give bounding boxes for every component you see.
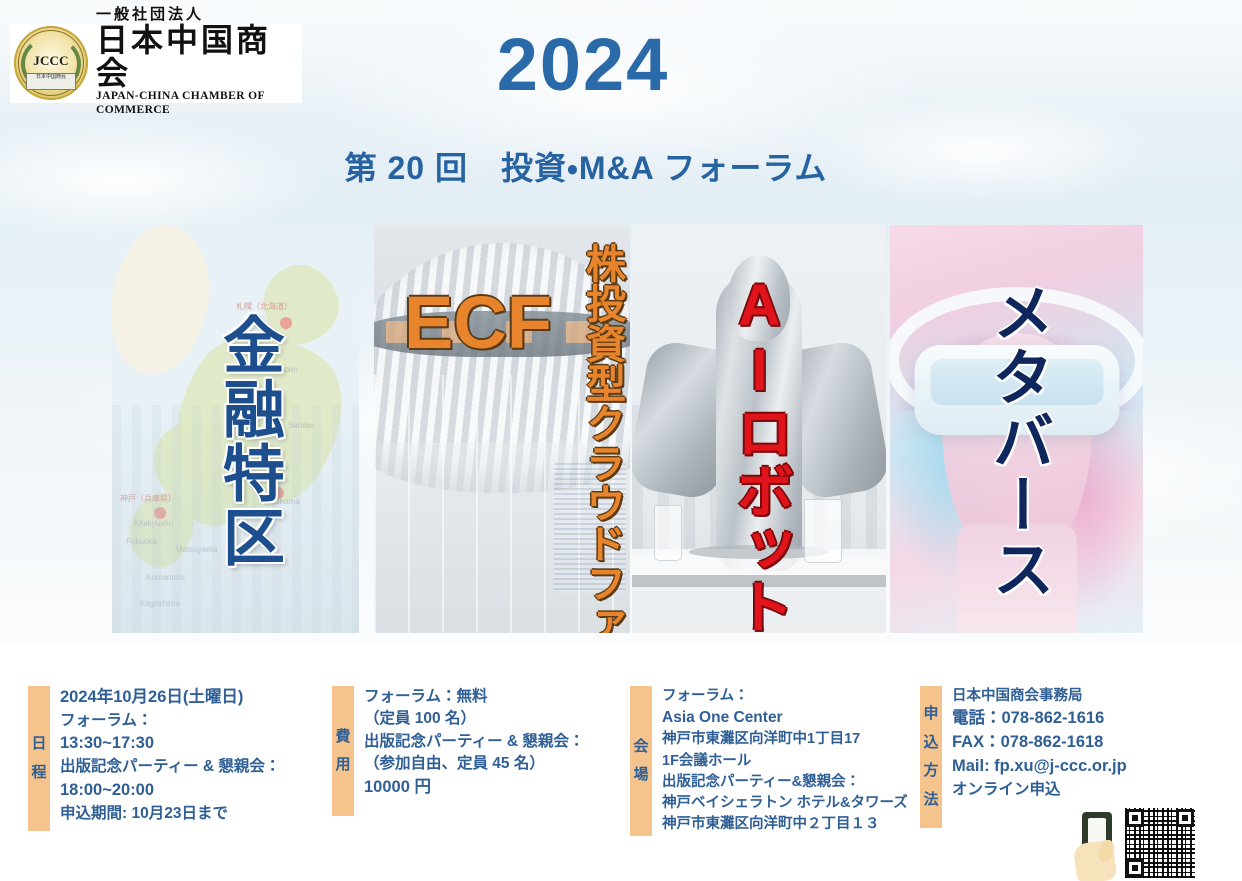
panel-caption-ecf-sub: 株投資型クラウドファンティング <box>582 243 622 633</box>
info-block-fee: 費 用 フォーラム：無料 （定員 100 名） 出版記念パーティー & 懇親会：… <box>332 686 622 816</box>
page-title-year: 2024 <box>0 22 1242 107</box>
tag-fee-char-1: 費 <box>335 723 350 752</box>
fee-forum-capacity: （定員 100 名） <box>364 708 584 730</box>
panel-caption-ecf-main: ECF <box>404 287 552 360</box>
venue-party-address: 神戸市東灘区向洋町中２丁目１３ <box>662 814 908 835</box>
tag-fee: 費 用 <box>332 686 354 816</box>
tag-apply-char-1: 申 <box>923 700 938 729</box>
tag-venue: 会 場 <box>630 686 652 836</box>
logo-line-corporate-form: 一般社団法人 <box>96 8 298 23</box>
tag-apply: 申 込 方 法 <box>920 686 942 828</box>
info-apply-body: 日本中国商会事務局 電話：078-862-1616 FAX：078-862-16… <box>942 686 1127 801</box>
tag-schedule-char-1: 日 <box>31 730 46 759</box>
apply-online: オンライン申込 <box>952 779 1127 801</box>
page-subtitle: 第 20 回 投資・M&A フォーラム <box>0 143 1242 189</box>
schedule-party-time: 18:00~20:00 <box>60 779 280 803</box>
apply-office: 日本中国商会事務局 <box>952 686 1127 707</box>
schedule-date: 2024年10月26日(土曜日) <box>60 686 280 710</box>
info-schedule-body: 2024年10月26日(土曜日) フォーラム： 13:30~17:30 出版記念… <box>50 686 280 825</box>
tag-schedule: 日 程 <box>28 686 50 831</box>
subtitle-text: 第 20 回 投資・M&A フォーラム <box>345 143 828 189</box>
apply-tel: 電話：078-862-1616 <box>952 707 1127 731</box>
qr-code-icon[interactable] <box>1125 808 1195 878</box>
tag-apply-char-2: 込 <box>923 729 938 758</box>
panel-finance-special-zone[interactable]: 札幌（北海道） 神戸（兵庫県） Japan Sendai Yokohama Sh… <box>112 225 359 633</box>
fee-party-capacity: （参加自由、定員 45 名） <box>364 753 584 775</box>
info-venue-body: フォーラム： Asia One Center 神戸市東灘区向洋町中1丁目17 1… <box>652 686 908 835</box>
info-fee-body: フォーラム：無料 （定員 100 名） 出版記念パーティー & 懇親会： （参加… <box>354 686 584 800</box>
apply-fax: FAX：078-862-1618 <box>952 731 1127 755</box>
seal-band-label: 日本中国商会 <box>26 73 76 90</box>
seal-initials: JCCC <box>33 53 68 69</box>
venue-forum-name: Asia One Center <box>662 707 908 729</box>
online-application-qr-area[interactable] <box>1075 806 1237 878</box>
venue-forum-hall: 1F会議ホール <box>662 751 908 772</box>
panel-ai-robot[interactable]: AIロボット <box>632 225 886 633</box>
tag-schedule-char-2: 程 <box>31 759 46 788</box>
info-block-schedule: 日 程 2024年10月26日(土曜日) フォーラム： 13:30~17:30 … <box>28 686 328 831</box>
panel-caption-metaverse: メタバース <box>986 281 1048 601</box>
venue-party-label: 出版記念パーティー&懇親会： <box>662 772 908 793</box>
schedule-forum-time: 13:30~17:30 <box>60 732 280 756</box>
venue-party-name: 神戸ベイシェラトン ホテル&タワーズ <box>662 793 908 814</box>
tag-fee-char-2: 用 <box>335 751 350 780</box>
info-block-venue: 会 場 フォーラム： Asia One Center 神戸市東灘区向洋町中1丁目… <box>630 686 930 836</box>
panel-ecf[interactable]: ECF 株投資型クラウドファンティング <box>374 225 630 633</box>
smartphone-in-hand-icon <box>1075 812 1119 878</box>
year-text: 2024 <box>497 22 670 107</box>
panel-metaverse[interactable]: メタバース <box>890 225 1143 633</box>
schedule-deadline: 申込期間: 10月23日まで <box>60 803 280 825</box>
fee-forum: フォーラム：無料 <box>364 686 584 708</box>
fee-party-price: 10000 円 <box>364 776 584 800</box>
fee-party-label: 出版記念パーティー & 懇親会： <box>364 731 584 753</box>
tag-apply-char-3: 方 <box>923 757 938 786</box>
tag-apply-char-4: 法 <box>923 786 938 815</box>
panel-caption-finance-special-zone: 金融特区 <box>216 313 278 569</box>
venue-forum-address: 神戸市東灘区向洋町中1丁目17 <box>662 729 908 750</box>
topic-panel-strip: 札幌（北海道） 神戸（兵庫県） Japan Sendai Yokohama Sh… <box>0 225 1242 633</box>
tag-venue-char-1: 会 <box>633 733 648 762</box>
apply-mail[interactable]: Mail: fp.xu@j-ccc.or.jp <box>952 755 1127 779</box>
schedule-forum-label: フォーラム： <box>60 710 280 732</box>
venue-forum-label: フォーラム： <box>662 686 908 707</box>
tag-venue-char-2: 場 <box>633 761 648 790</box>
poster-root: JCCC 日本中国商会 一般社団法人 日本中国商会 JAPAN-CHINA CH… <box>0 0 1242 881</box>
panel-caption-ai-robot: AIロボット <box>730 273 788 633</box>
schedule-party-label: 出版記念パーティー & 懇親会： <box>60 756 280 778</box>
